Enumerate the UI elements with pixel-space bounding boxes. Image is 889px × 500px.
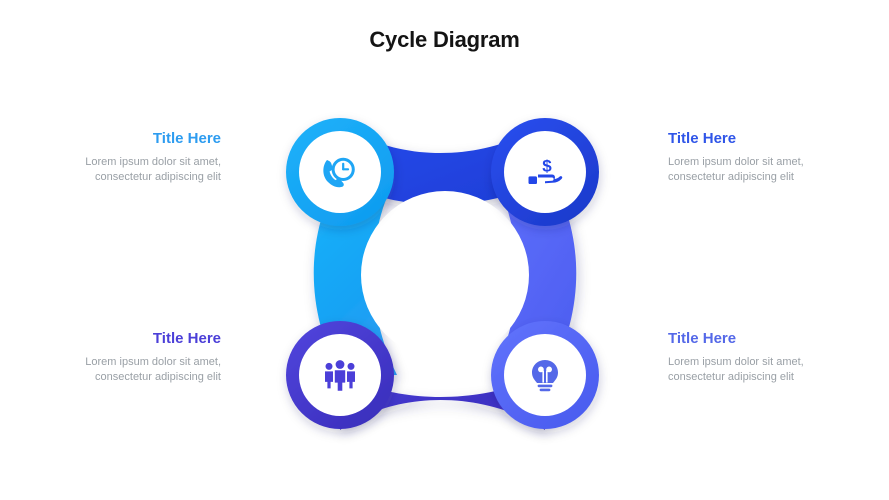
slide-canvas: Cycle Diagram (0, 0, 889, 500)
svg-text:$: $ (542, 157, 552, 176)
node-bottom-left[interactable] (286, 321, 394, 429)
label-desc-bottom-left: Lorem ipsum dolor sit amet, consectetur … (73, 355, 221, 387)
node-disc-top-left (299, 131, 381, 213)
label-desc-top-left: Lorem ipsum dolor sit amet, consectetur … (73, 155, 221, 187)
node-bottom-right[interactable] (491, 321, 599, 429)
label-title-top-left: Title Here (73, 131, 221, 148)
label-title-bottom-right: Title Here (668, 331, 816, 348)
page-title: Cycle Diagram (0, 27, 889, 53)
label-desc-top-right: Lorem ipsum dolor sit amet, consectetur … (668, 155, 816, 187)
label-desc-bottom-right: Lorem ipsum dolor sit amet, consectetur … (668, 355, 816, 387)
node-top-right[interactable]: $ (491, 118, 599, 226)
cycle-diagram: $ (245, 85, 645, 470)
label-block-bottom-left: Title Here Lorem ipsum dolor sit amet, c… (73, 331, 221, 386)
people-group-icon (325, 360, 355, 391)
label-block-top-left: Title Here Lorem ipsum dolor sit amet, c… (73, 131, 221, 186)
node-top-left[interactable] (286, 118, 394, 226)
label-title-top-right: Title Here (668, 131, 816, 148)
label-title-bottom-left: Title Here (73, 331, 221, 348)
label-block-top-right: Title Here Lorem ipsum dolor sit amet, c… (668, 131, 816, 186)
label-block-bottom-right: Title Here Lorem ipsum dolor sit amet, c… (668, 331, 816, 386)
